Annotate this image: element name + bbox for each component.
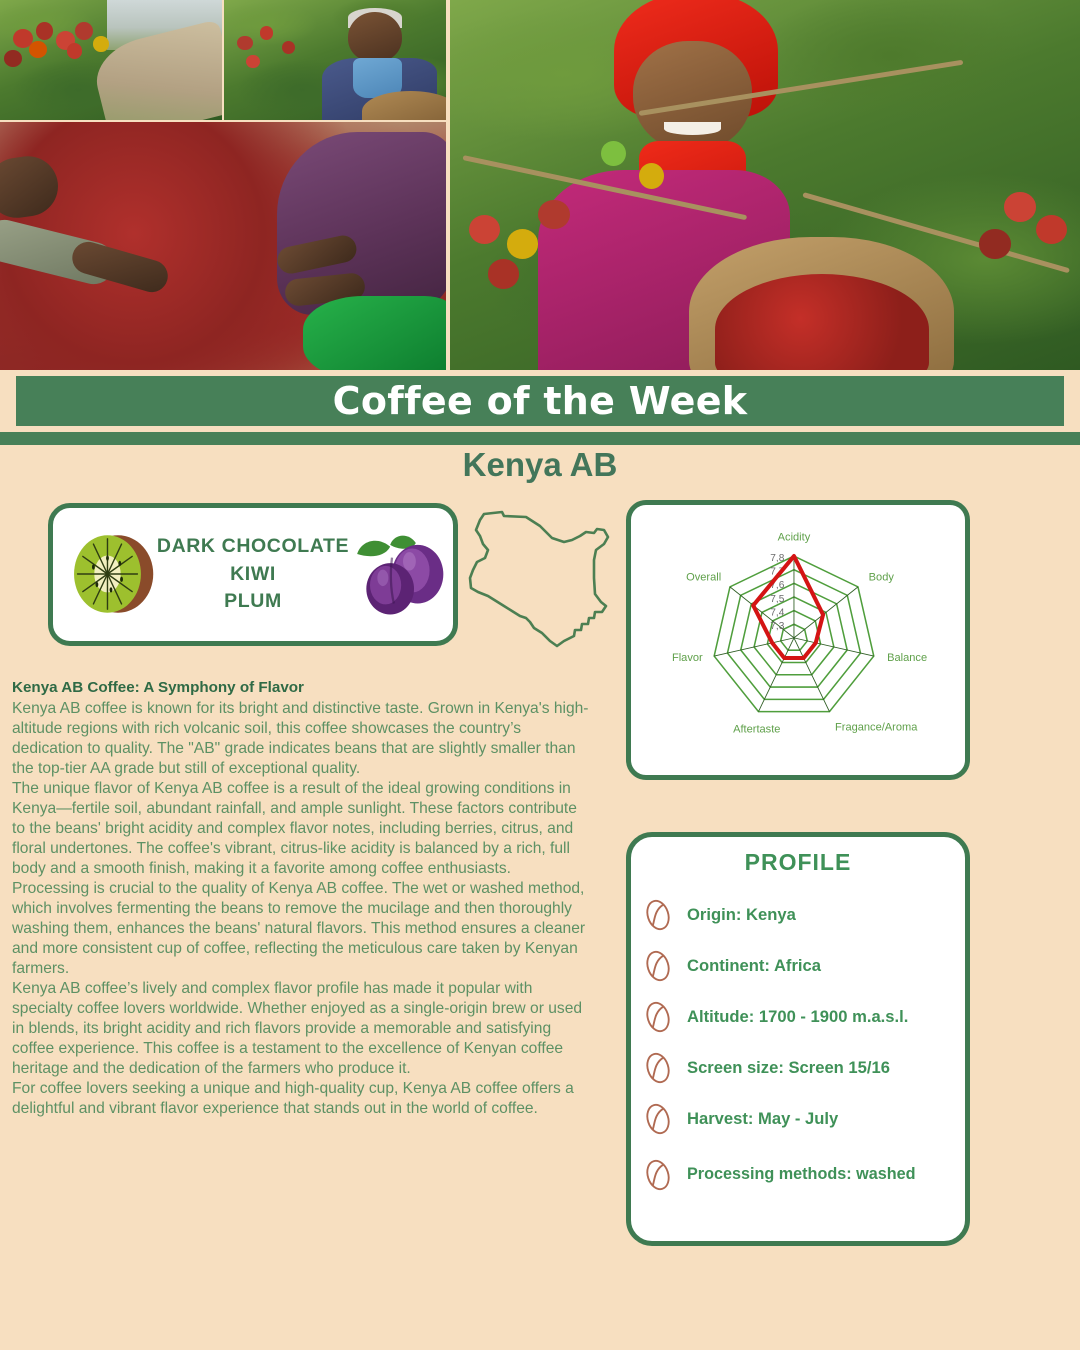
profile-list: Origin: Kenya Continent: Africa Altitude… [631, 889, 965, 1206]
flavor-notes-card: DARK CHOCOLATE KIWI PLUM [48, 503, 458, 646]
coffee-bean-icon [641, 1051, 675, 1085]
svg-text:7,5: 7,5 [770, 594, 784, 605]
svg-text:Flavor: Flavor [672, 652, 703, 664]
profile-card: PROFILE Origin: Kenya Continent: Africa [626, 832, 970, 1246]
coffee-bean-icon [641, 898, 675, 932]
coffee-bean-icon [641, 1102, 675, 1136]
photo-woman-harvesting [450, 0, 1080, 370]
page-title: Coffee of the Week [0, 374, 1080, 428]
photo-collage [0, 0, 1080, 370]
article-paragraph-4: Kenya AB coffee’s lively and complex fla… [12, 979, 590, 1079]
flavor-radar-chart-card: 7,87,77,67,57,47,3AcidityBodyBalanceFrag… [626, 500, 970, 780]
svg-text:7,3: 7,3 [770, 621, 784, 632]
coffee-bean-icon [641, 1158, 675, 1192]
article-paragraph-1: Kenya AB coffee is known for its bright … [12, 699, 590, 779]
profile-row-continent: Continent: Africa [631, 940, 965, 991]
photo-sorting-cherries [0, 122, 446, 370]
profile-label-continent: Continent: Africa [687, 956, 821, 976]
profile-row-screen-size: Screen size: Screen 15/16 [631, 1042, 965, 1093]
flavor-note-2: KIWI [230, 561, 276, 589]
profile-row-processing: Processing methods: washed [631, 1144, 965, 1206]
article-paragraph-2: The unique flavor of Kenya AB coffee is … [12, 779, 590, 879]
svg-text:Body: Body [869, 572, 895, 584]
svg-text:7,4: 7,4 [770, 607, 784, 618]
article-heading: Kenya AB Coffee: A Symphony of Flavor [12, 678, 590, 698]
profile-row-origin: Origin: Kenya [631, 889, 965, 940]
infographic-page: Coffee of the Week Kenya AB DARK [0, 0, 1080, 1350]
photo-smiling-farmer [224, 0, 446, 120]
photo-coffee-cherries-on-branch [0, 0, 222, 120]
svg-text:7,8: 7,8 [770, 553, 784, 564]
profile-label-harvest: Harvest: May - July [687, 1109, 838, 1129]
plums-icon [337, 528, 447, 624]
svg-text:Overall: Overall [686, 572, 721, 584]
svg-text:Acidity: Acidity [778, 532, 811, 544]
article-paragraph-3: Processing is crucial to the quality of … [12, 879, 590, 979]
profile-label-screen-size: Screen size: Screen 15/16 [687, 1058, 890, 1078]
kenya-map-outline-icon [468, 500, 618, 650]
article-body: Kenya AB Coffee: A Symphony of Flavor Ke… [12, 678, 590, 1119]
svg-text:Aftertaste: Aftertaste [733, 723, 780, 735]
coffee-name: Kenya AB [0, 444, 1080, 486]
radar-chart: 7,87,77,67,57,47,3AcidityBodyBalanceFrag… [631, 505, 955, 765]
svg-text:Balance: Balance [887, 652, 927, 664]
profile-label-origin: Origin: Kenya [687, 905, 796, 925]
profile-label-processing: Processing methods: washed [687, 1165, 915, 1184]
flavor-note-3: PLUM [224, 588, 282, 616]
flavor-note-1: DARK CHOCOLATE [157, 533, 349, 561]
coffee-bean-icon [641, 949, 675, 983]
profile-row-altitude: Altitude: 1700 - 1900 m.a.s.l. [631, 991, 965, 1042]
article-paragraph-5: For coffee lovers seeking a unique and h… [12, 1079, 590, 1119]
coffee-bean-icon [641, 1000, 675, 1034]
profile-row-harvest: Harvest: May - July [631, 1093, 965, 1144]
profile-label-altitude: Altitude: 1700 - 1900 m.a.s.l. [687, 1007, 908, 1027]
svg-text:Fragance/Aroma: Fragance/Aroma [835, 722, 918, 734]
profile-title: PROFILE [631, 849, 965, 876]
